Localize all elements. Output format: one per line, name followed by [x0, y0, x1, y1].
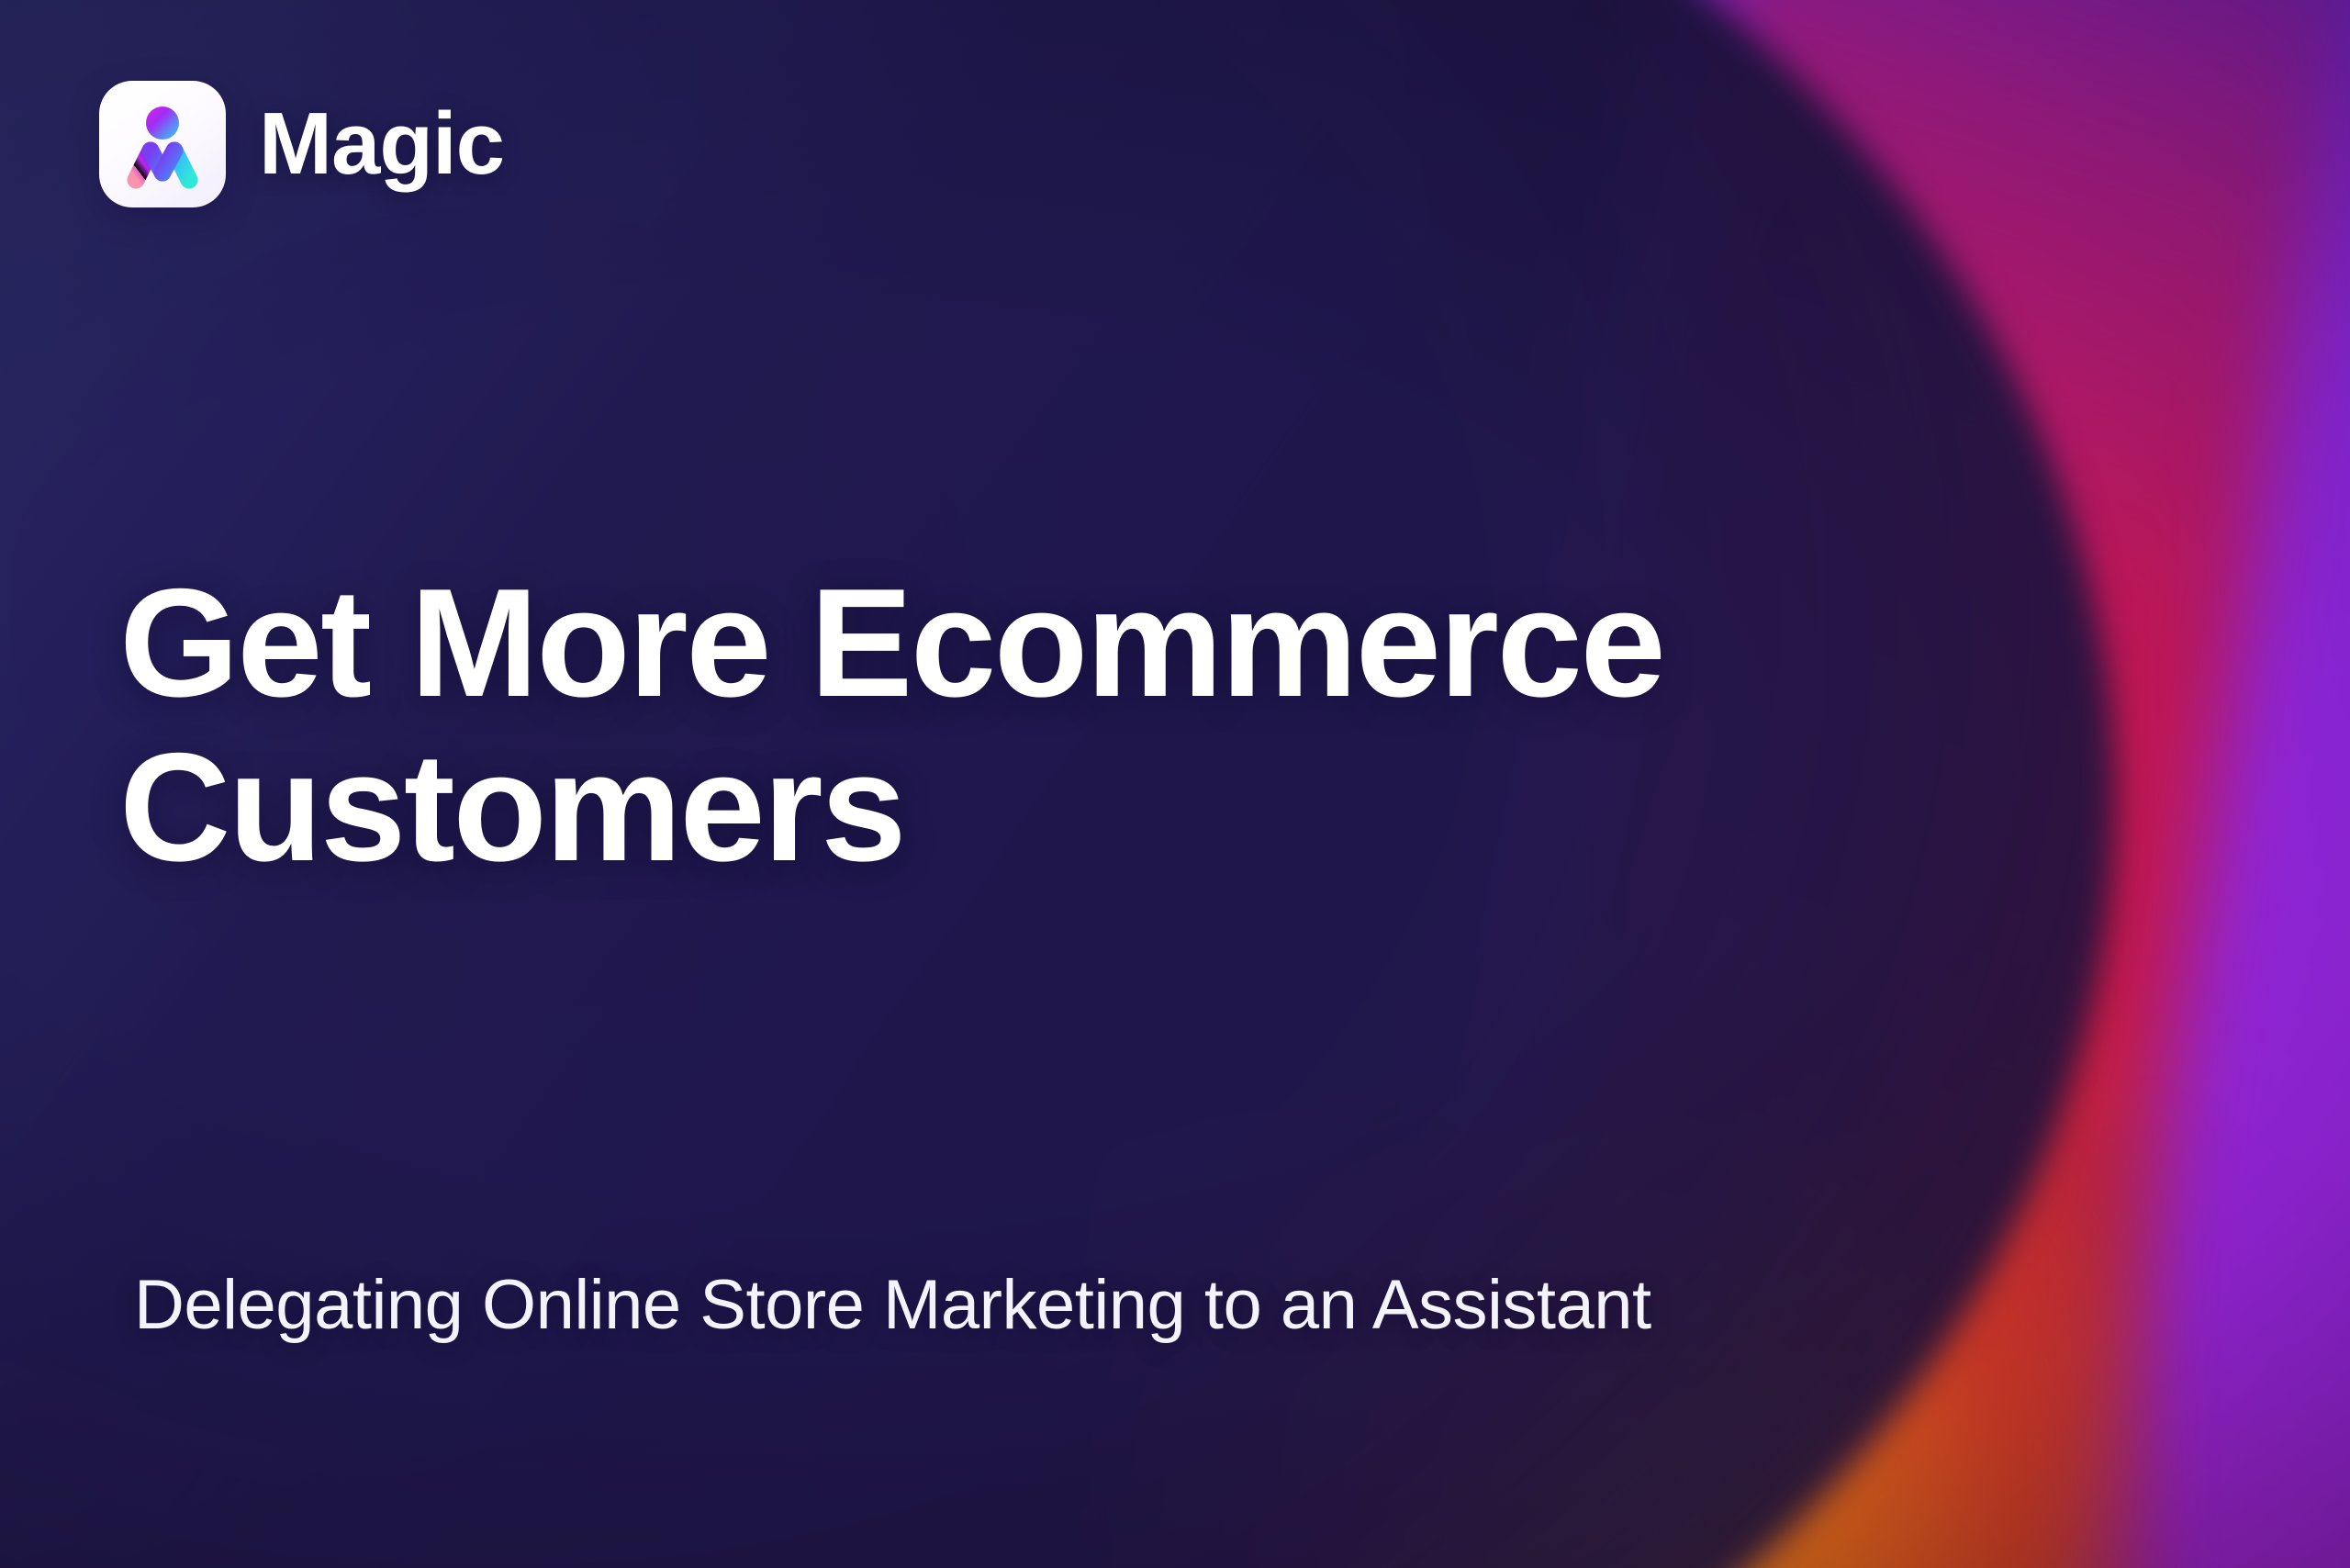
brand-lockup: Magic: [99, 81, 504, 207]
slide-content: Magic Get More Ecommerce Customers Deleg…: [0, 0, 2350, 1568]
brand-name: Magic: [259, 100, 504, 188]
magic-people-logo-icon: [99, 81, 226, 207]
page-title: Get More Ecommerce Customers: [119, 561, 2075, 891]
subtitle: Delegating Online Store Marketing to an …: [134, 1263, 2117, 1347]
headline-line-1: Get More Ecommerce: [119, 561, 2075, 726]
title-slide: Magic Get More Ecommerce Customers Deleg…: [0, 0, 2350, 1568]
headline-line-2: Customers: [119, 725, 2075, 890]
